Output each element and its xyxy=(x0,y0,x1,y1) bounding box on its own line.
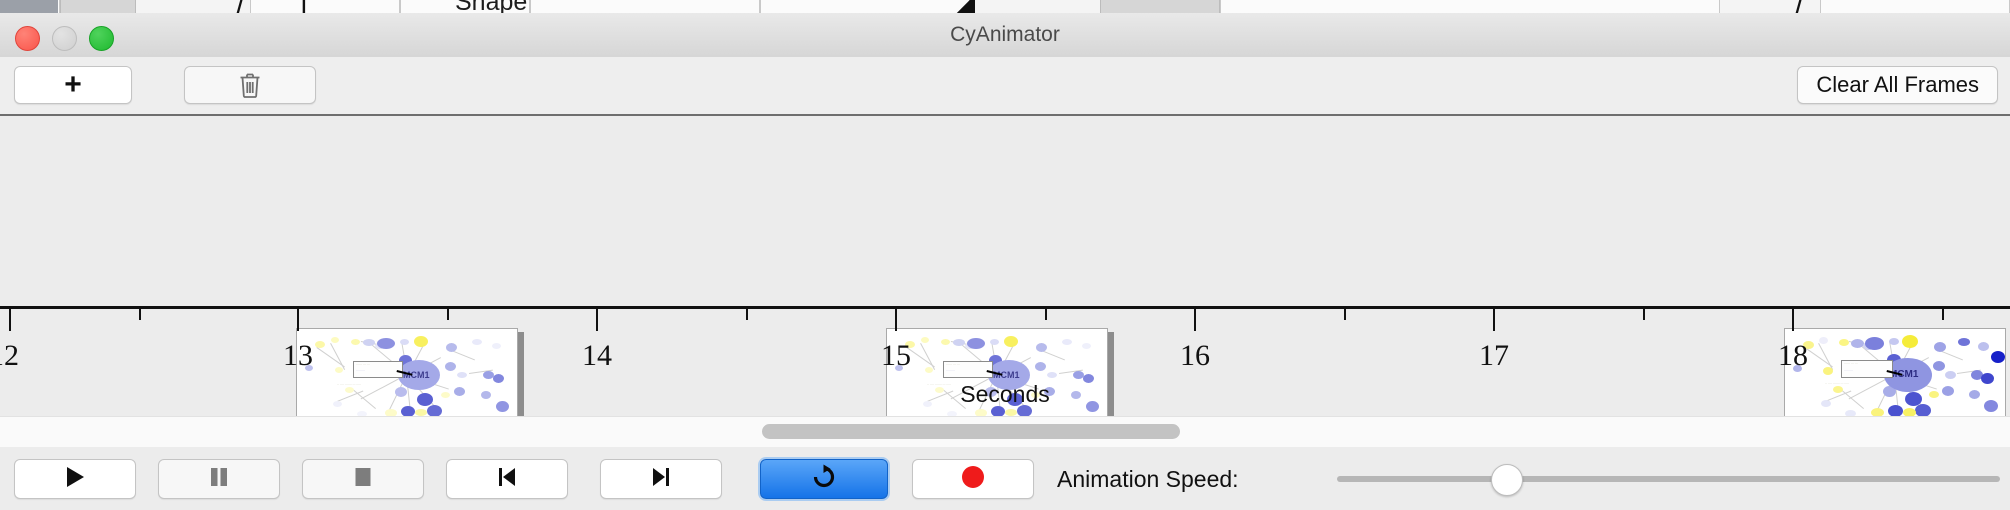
timeline-horizontal-scrollbar[interactable] xyxy=(0,416,2010,448)
axis-tick-label: 15 xyxy=(881,341,911,371)
axis-tick-label: 18 xyxy=(1778,341,1808,371)
animation-speed-slider-thumb[interactable] xyxy=(1491,464,1523,496)
axis-tick-label: 16 xyxy=(1180,341,1210,371)
axis-tick-minor xyxy=(1344,309,1346,320)
axis-tick-minor xyxy=(1045,309,1047,320)
add-frame-button[interactable]: + xyxy=(14,66,132,104)
axis-tick-minor xyxy=(139,309,141,320)
pause-button[interactable] xyxy=(158,459,280,499)
plus-icon: + xyxy=(64,70,82,100)
axis-title: Seconds xyxy=(0,381,2010,408)
window-titlebar: CyAnimator xyxy=(0,13,2010,58)
timeline-axis-line xyxy=(0,306,2010,309)
axis-tick-minor xyxy=(746,309,748,320)
cyanimator-window: / | ◢ Shape / CyAnimator + Cl xyxy=(0,0,2010,510)
stop-button[interactable] xyxy=(302,459,424,499)
axis-tick-major xyxy=(1792,309,1794,331)
axis-tick-major xyxy=(1493,309,1495,331)
axis-tick-major xyxy=(1194,309,1196,331)
pause-icon xyxy=(208,465,230,494)
stop-icon xyxy=(352,465,374,494)
clear-all-frames-button[interactable]: Clear All Frames xyxy=(1797,66,1998,104)
frame-toolbar: + Clear All Frames xyxy=(0,57,2010,116)
clear-all-frames-label: Clear All Frames xyxy=(1816,72,1979,98)
timeline-panel[interactable]: MCM1 ······ ··· ··· ········· ·· ···· ··… xyxy=(0,116,2010,416)
background-window-label: Shape xyxy=(455,0,527,14)
record-icon xyxy=(960,464,986,495)
record-button[interactable] xyxy=(912,459,1034,499)
playback-control-bar: Animation Speed: xyxy=(0,447,2010,510)
axis-tick-label: 14 xyxy=(582,341,612,371)
trash-icon xyxy=(237,71,263,99)
axis-tick-label: 13 xyxy=(283,341,313,371)
skip-forward-icon xyxy=(649,465,673,494)
axis-tick-major xyxy=(9,309,11,331)
delete-frame-button[interactable] xyxy=(184,66,316,104)
animation-speed-slider[interactable] xyxy=(1337,476,2000,482)
background-window-strip: / | ◢ Shape / xyxy=(0,0,2010,14)
play-button[interactable] xyxy=(14,459,136,499)
window-title: CyAnimator xyxy=(0,13,2010,57)
animation-speed-label: Animation Speed: xyxy=(1057,468,1239,491)
axis-tick-label: 17 xyxy=(1479,341,1509,371)
play-icon xyxy=(64,465,86,494)
axis-tick-minor xyxy=(447,309,449,320)
skip-back-icon xyxy=(495,465,519,494)
skip-to-end-button[interactable] xyxy=(600,459,722,499)
axis-tick-minor xyxy=(1942,309,1944,320)
loop-icon xyxy=(811,464,837,495)
scrollbar-thumb[interactable] xyxy=(762,424,1180,439)
axis-tick-major xyxy=(297,309,299,331)
axis-tick-label: 12 xyxy=(0,341,19,371)
loop-button[interactable] xyxy=(760,459,888,499)
axis-tick-major xyxy=(596,309,598,331)
axis-tick-minor xyxy=(1643,309,1645,320)
axis-tick-major xyxy=(895,309,897,331)
skip-to-start-button[interactable] xyxy=(446,459,568,499)
